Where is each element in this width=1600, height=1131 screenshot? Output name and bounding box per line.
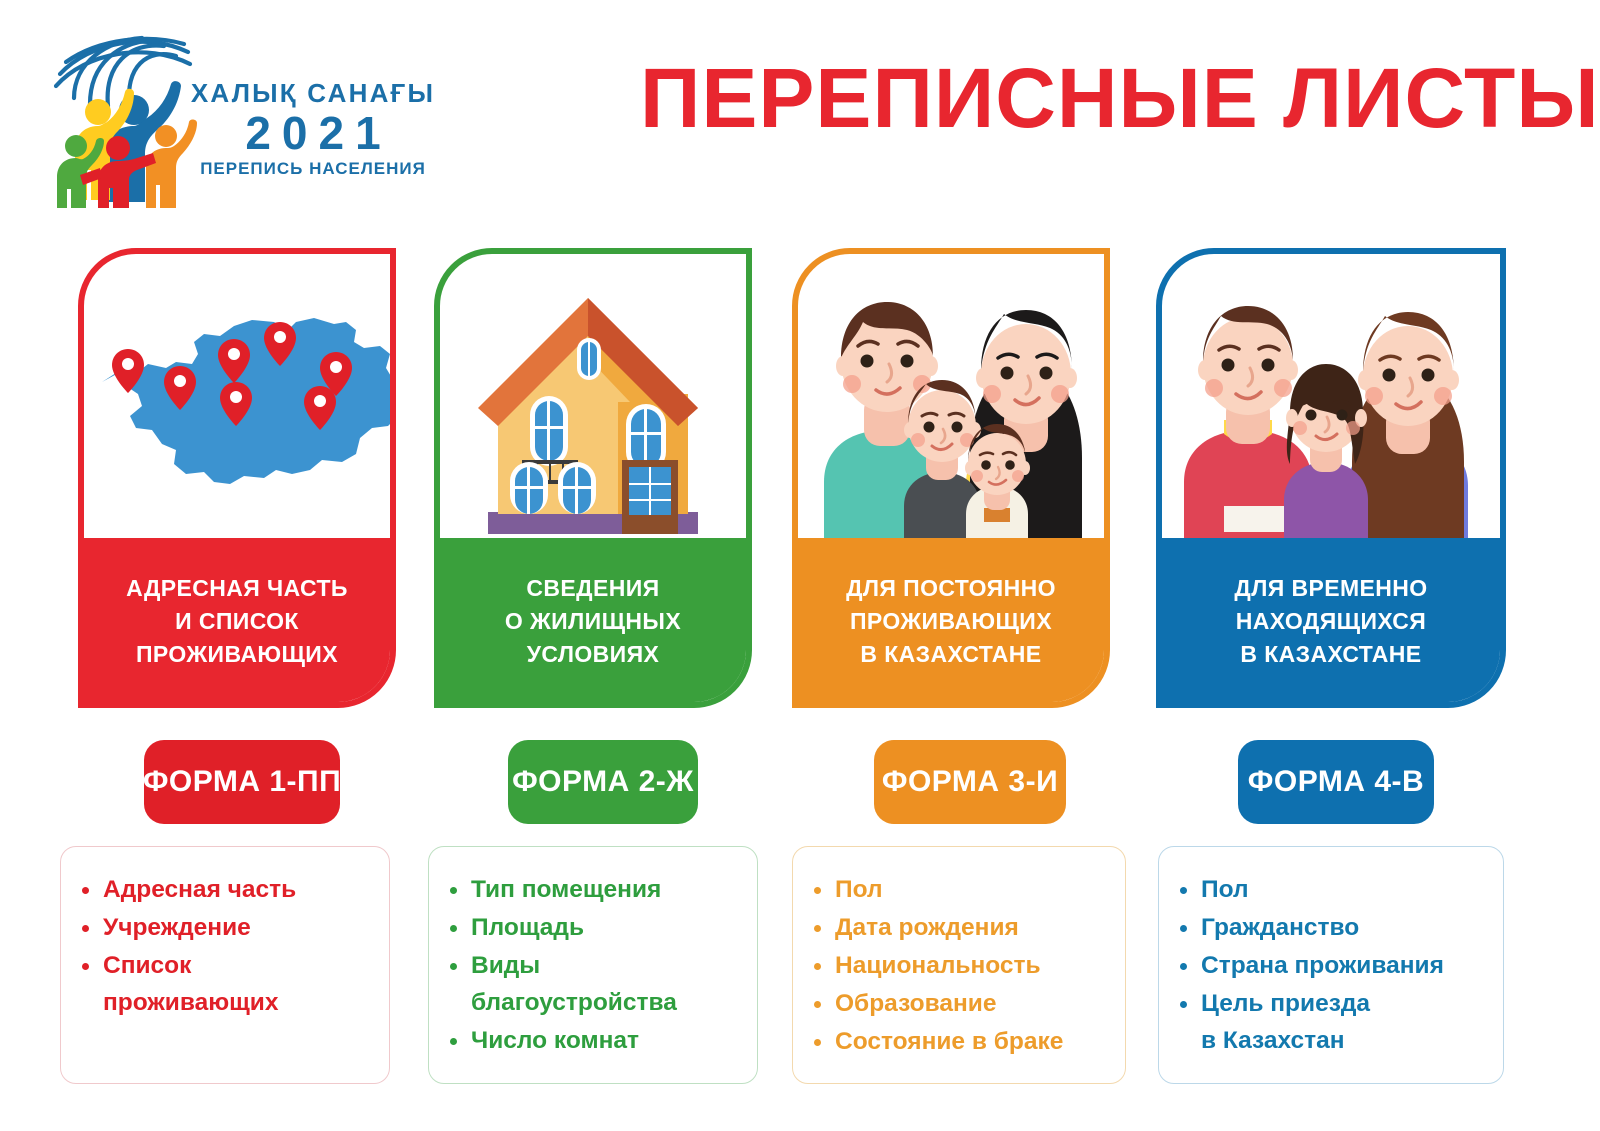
card-band-label: АДРЕСНАЯ ЧАСТЬ И СПИСОК ПРОЖИВАЮЩИХ	[118, 572, 356, 671]
card-band-label: ДЛЯ ВРЕМЕННО НАХОДЯЩИХСЯ В КАЗАХСТАНЕ	[1226, 572, 1435, 671]
card-shape: СВЕДЕНИЯ О ЖИЛИЩНЫХ УСЛОВИЯХ	[434, 248, 752, 708]
list-item: Цель приезда в Казахстан	[1175, 985, 1489, 1059]
card-shape: ДЛЯ ВРЕМЕННО НАХОДЯЩИХСЯ В КАЗАХСТАНЕ	[1156, 248, 1506, 708]
form-contents-2-zh: Тип помещения Площадь Виды благоустройст…	[428, 846, 758, 1084]
list-item: Виды благоустройства	[445, 947, 743, 1021]
card-band: АДРЕСНАЯ ЧАСТЬ И СПИСОК ПРОЖИВАЮЩИХ	[82, 538, 392, 704]
card-illustration-family-three	[1162, 254, 1500, 554]
list-item: Число комнат	[445, 1022, 743, 1059]
list-item: Гражданство	[1175, 909, 1489, 946]
page-header: ХАЛЫҚ САНАҒЫ 2021 ПЕРЕПИСЬ НАСЕЛЕНИЯ ПЕР…	[0, 0, 1600, 225]
form-card-4-v[interactable]: ДЛЯ ВРЕМЕННО НАХОДЯЩИХСЯ В КАЗАХСТАНЕ	[1156, 248, 1506, 708]
form-contents-row: Адресная часть Учреждение Список прожива…	[0, 846, 1600, 1096]
list-item: Список проживающих	[77, 947, 375, 1021]
form-contents-1-pp: Адресная часть Учреждение Список прожива…	[60, 846, 390, 1084]
list-item: Адресная часть	[77, 871, 375, 908]
page-title: ПЕРЕПИСНЫЕ ЛИСТЫ	[640, 52, 1570, 144]
form-badge-1-pp[interactable]: ФОРМА 1-ПП	[144, 740, 340, 824]
card-shape: ДЛЯ ПОСТОЯННО ПРОЖИВАЮЩИХ В КАЗАХСТАНЕ	[792, 248, 1110, 708]
list-item: Учреждение	[77, 909, 375, 946]
kazakhstan-map-icon	[84, 254, 390, 554]
logo-line-kazakh: ХАЛЫҚ САНАҒЫ	[188, 78, 438, 108]
form-badge-4-v[interactable]: ФОРМА 4-В	[1238, 740, 1434, 824]
list-item: Национальность	[809, 947, 1111, 984]
family-of-three-icon	[1162, 254, 1500, 554]
form-badge-2-zh[interactable]: ФОРМА 2-Ж	[508, 740, 698, 824]
form-card-1-pp[interactable]: АДРЕСНАЯ ЧАСТЬ И СПИСОК ПРОЖИВАЮЩИХ	[78, 248, 396, 708]
form-badges-row: ФОРМА 1-ПП ФОРМА 2-Ж ФОРМА 3-И ФОРМА 4-В	[0, 740, 1600, 832]
list-item: Образование	[809, 985, 1111, 1022]
card-band-label: СВЕДЕНИЯ О ЖИЛИЩНЫХ УСЛОВИЯХ	[497, 572, 689, 671]
family-of-four-icon	[798, 254, 1104, 554]
list-item: Тип помещения	[445, 871, 743, 908]
list-item: Пол	[809, 871, 1111, 908]
form-card-3-i[interactable]: ДЛЯ ПОСТОЯННО ПРОЖИВАЮЩИХ В КАЗАХСТАНЕ	[792, 248, 1110, 708]
house-icon	[440, 254, 746, 554]
form-contents-4-v: Пол Гражданство Страна проживания Цель п…	[1158, 846, 1504, 1084]
card-band: ДЛЯ ПОСТОЯННО ПРОЖИВАЮЩИХ В КАЗАХСТАНЕ	[796, 538, 1106, 704]
card-band-label: ДЛЯ ПОСТОЯННО ПРОЖИВАЮЩИХ В КАЗАХСТАНЕ	[838, 572, 1064, 671]
infographic-page: ХАЛЫҚ САНАҒЫ 2021 ПЕРЕПИСЬ НАСЕЛЕНИЯ ПЕР…	[0, 0, 1600, 1131]
list-item: Площадь	[445, 909, 743, 946]
card-illustration-house	[440, 254, 746, 554]
logo-line-russian: ПЕРЕПИСЬ НАСЕЛЕНИЯ	[188, 158, 438, 180]
list: Тип помещения Площадь Виды благоустройст…	[445, 871, 743, 1059]
card-illustration-map	[84, 254, 390, 554]
form-badge-3-i[interactable]: ФОРМА 3-И	[874, 740, 1066, 824]
list-item: Пол	[1175, 871, 1489, 908]
card-band: СВЕДЕНИЯ О ЖИЛИЩНЫХ УСЛОВИЯХ	[438, 538, 748, 704]
form-card-2-zh[interactable]: СВЕДЕНИЯ О ЖИЛИЩНЫХ УСЛОВИЯХ	[434, 248, 752, 708]
list-item: Дата рождения	[809, 909, 1111, 946]
list: Пол Гражданство Страна проживания Цель п…	[1175, 871, 1489, 1059]
card-band: ДЛЯ ВРЕМЕННО НАХОДЯЩИХСЯ В КАЗАХСТАНЕ	[1160, 538, 1502, 704]
form-cards-row: АДРЕСНАЯ ЧАСТЬ И СПИСОК ПРОЖИВАЮЩИХ	[0, 248, 1600, 718]
card-illustration-family-four	[798, 254, 1104, 554]
card-shape: АДРЕСНАЯ ЧАСТЬ И СПИСОК ПРОЖИВАЮЩИХ	[78, 248, 396, 708]
logo-year: 2021	[188, 108, 438, 158]
list: Пол Дата рождения Национальность Образов…	[809, 871, 1111, 1060]
list-item: Страна проживания	[1175, 947, 1489, 984]
logo-wordmark: ХАЛЫҚ САНАҒЫ 2021 ПЕРЕПИСЬ НАСЕЛЕНИЯ	[188, 78, 438, 180]
list: Адресная часть Учреждение Список прожива…	[77, 871, 375, 1021]
form-contents-3-i: Пол Дата рождения Национальность Образов…	[792, 846, 1126, 1084]
list-item: Состояние в браке	[809, 1023, 1111, 1060]
